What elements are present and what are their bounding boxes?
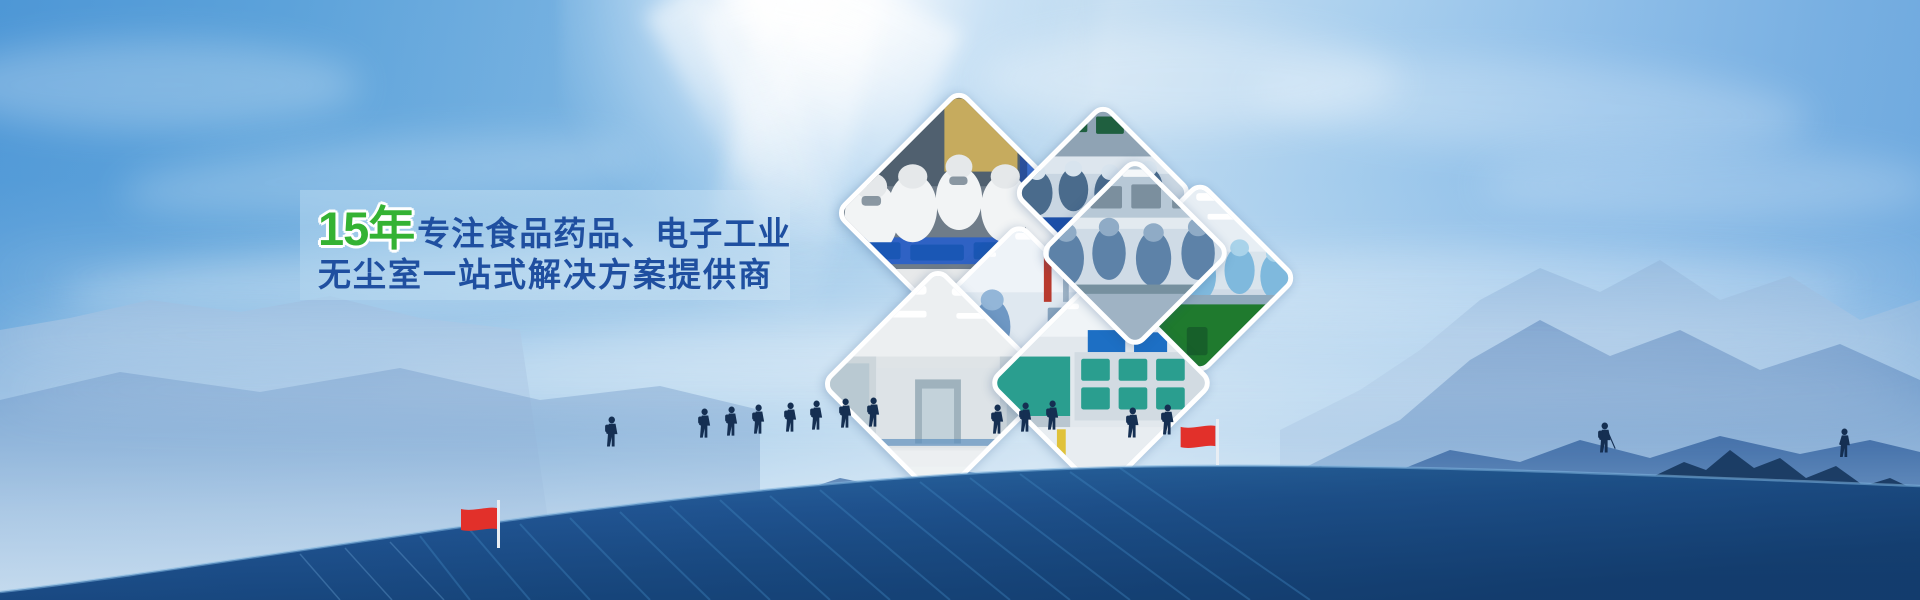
- hiker-group: [0, 0, 1920, 600]
- hero-banner: 15年 专注食品药品、电子工业 无尘室一站式解决方案提供商: [0, 0, 1920, 600]
